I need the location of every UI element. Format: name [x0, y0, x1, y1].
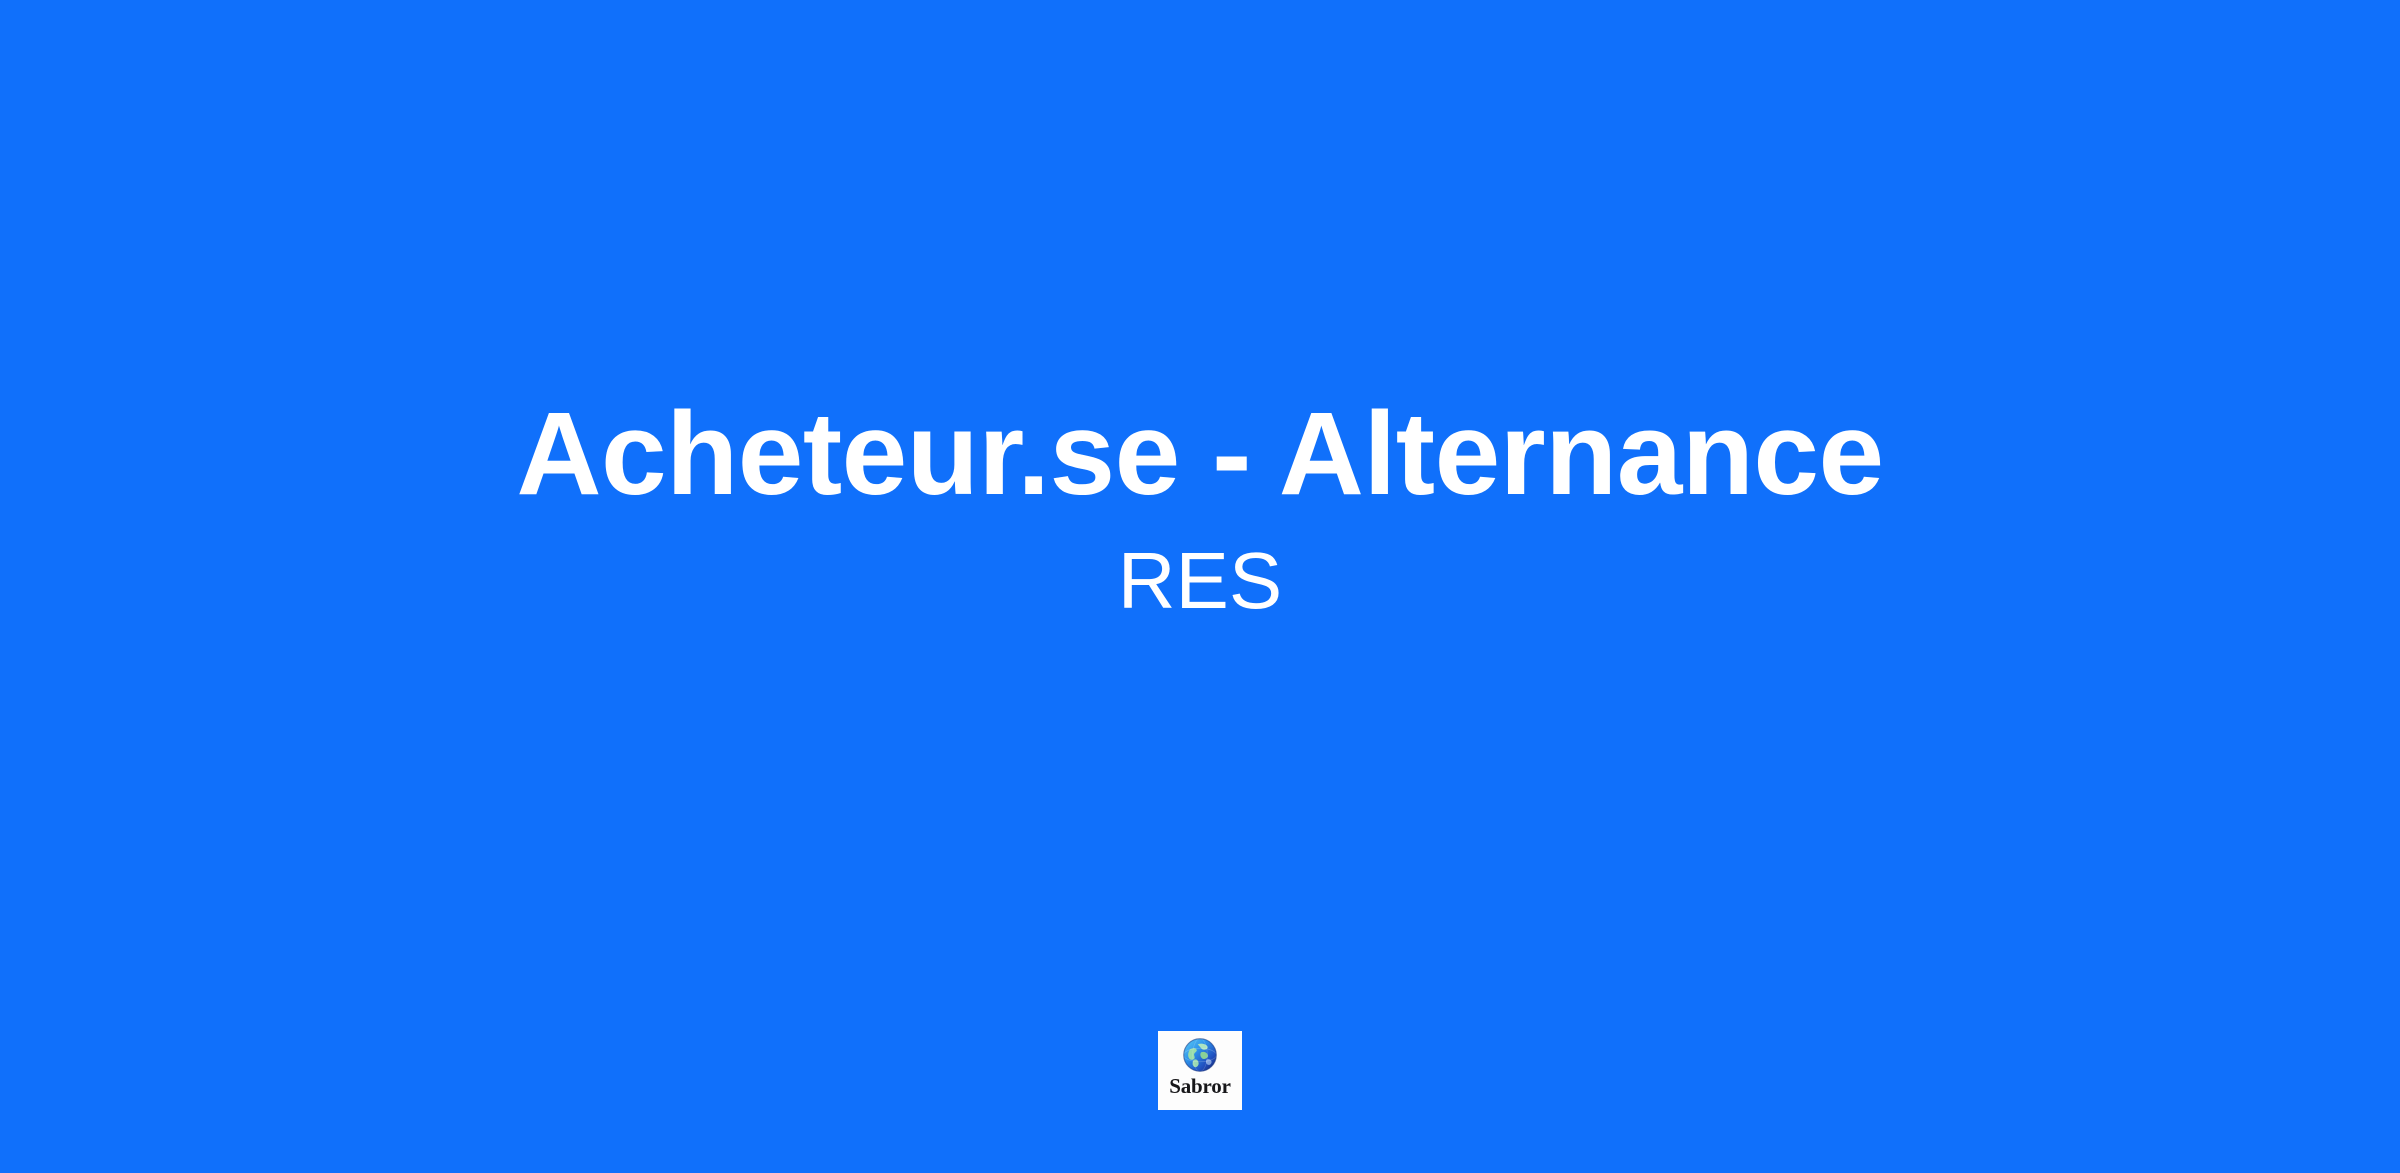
brand-logo: Sabror	[1158, 1031, 1242, 1110]
logo-wordmark: Sabror	[1169, 1076, 1230, 1097]
page-title: Acheteur.se - Alternance	[516, 388, 1883, 520]
page-subtitle: RES	[1118, 537, 1283, 625]
title-slide: Acheteur.se - Alternance RES	[0, 0, 2400, 1173]
hero-text-block: Acheteur.se - Alternance RES	[0, 388, 2400, 625]
globe-icon	[1182, 1037, 1218, 1073]
